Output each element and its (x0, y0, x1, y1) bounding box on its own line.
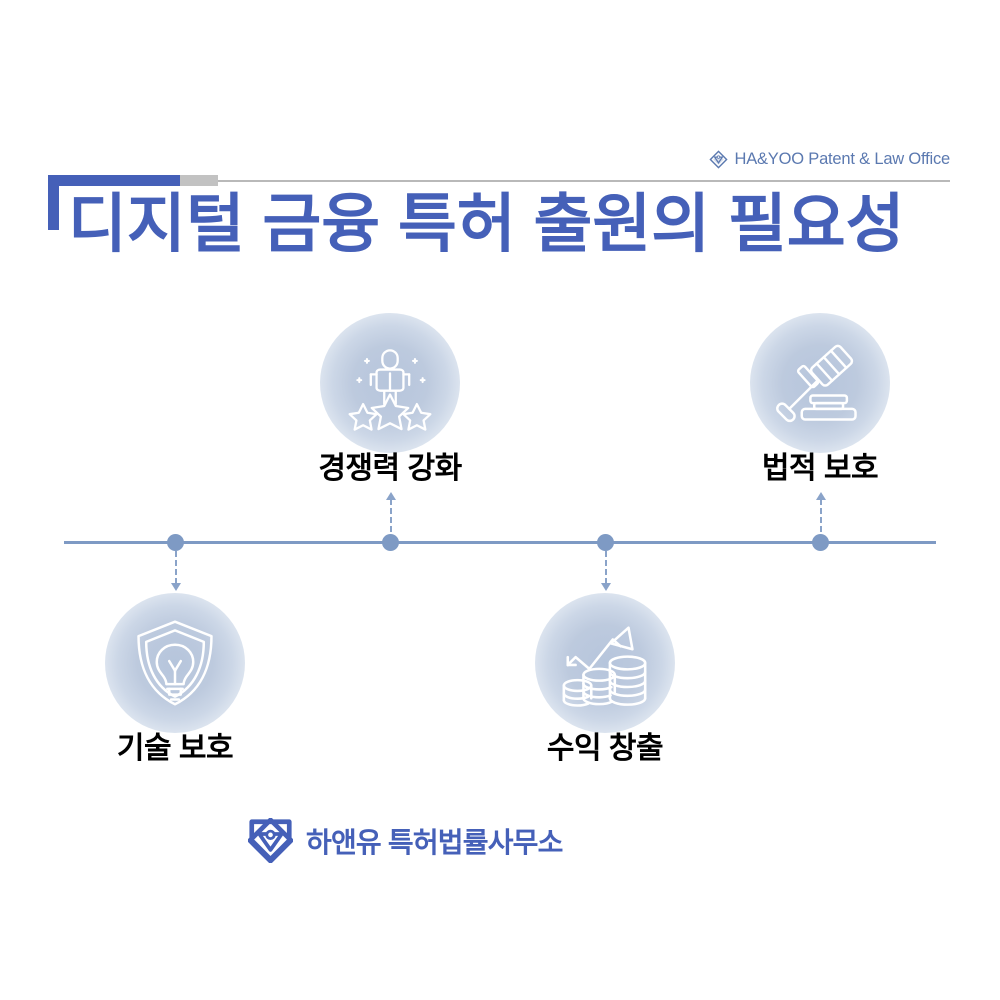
brand-name-text: HA&YOO Patent & Law Office (734, 150, 950, 169)
timeline-dot (597, 534, 614, 551)
slide-canvas: HA&YOO Patent & Law Office 디지털 금융 특허 출원의… (0, 0, 1000, 1000)
gavel-icon (750, 313, 890, 453)
header-rule-blue-segment (48, 175, 180, 186)
shield-lightbulb-icon (105, 593, 245, 733)
header-brand: HA&YOO Patent & Law Office (709, 148, 950, 170)
node-label: 수익 창출 (547, 723, 663, 767)
page-title: 디지털 금융 특허 출원의 필요성 (68, 192, 905, 256)
timeline-dot (167, 534, 184, 551)
footer-logo: 하앤유 특허법률사무소 (248, 818, 563, 863)
hayoo-diamond-logo-icon (709, 150, 728, 169)
timeline-axis (64, 541, 936, 544)
node-revenue-generation[interactable]: 수익 창출 (535, 593, 675, 733)
node-label: 기술 보호 (117, 723, 233, 767)
node-label: 법적 보호 (762, 443, 878, 487)
footer-company-name: 하앤유 특허법률사무소 (306, 821, 563, 861)
node-tech-protection[interactable]: 기술 보호 (105, 593, 245, 733)
timeline-dot (812, 534, 829, 551)
header-rule-line (210, 180, 950, 182)
timeline-dot (382, 534, 399, 551)
person-stars-icon (320, 313, 460, 453)
hayoo-diamond-logo-icon (248, 818, 293, 863)
header-rule-gray-segment (178, 175, 218, 186)
node-competitiveness[interactable]: 경쟁력 강화 (320, 313, 460, 453)
node-legal-protection[interactable]: 법적 보호 (750, 313, 890, 453)
header-rule-vertical-accent (48, 175, 59, 230)
coins-growth-arrow-icon (535, 593, 675, 733)
node-label: 경쟁력 강화 (318, 443, 461, 487)
